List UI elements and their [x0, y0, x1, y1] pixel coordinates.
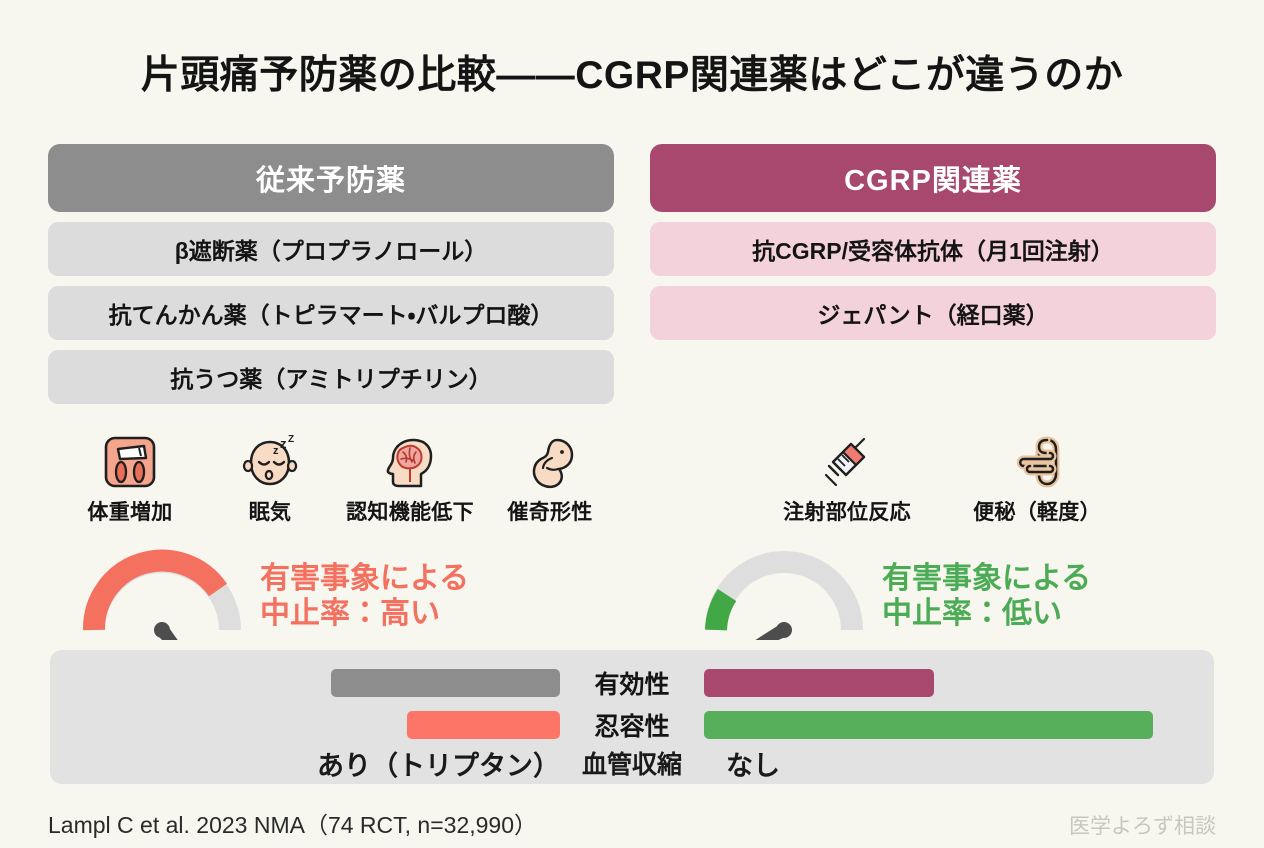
adverse-event-item: 便秘（軽度） — [942, 424, 1132, 526]
bar-track-right — [704, 708, 1214, 742]
comparison-row-tolerability: 忍容性 — [50, 708, 1214, 742]
comparison-label: 忍容性 — [560, 707, 704, 743]
adverse-event-label: 体重増加 — [87, 496, 172, 526]
gauge-line2: 中止率：高い — [260, 597, 469, 632]
adverse-event-label: 眠気 — [249, 496, 292, 526]
adverse-event-label: 認知機能低下 — [346, 496, 474, 526]
source-citation: Lampl C et al. 2023 NMA（74 RCT, n=32,990… — [48, 806, 537, 840]
gauge-line1: 有害事象による — [260, 562, 469, 595]
bar-track-left — [50, 666, 560, 700]
tolerability-bar-cgrp — [704, 711, 1153, 739]
comparison-label: 血管収縮 — [560, 745, 704, 781]
drug-pill: 抗うつ薬（アミトリプチリン） — [48, 350, 614, 404]
column-header-legacy: 従来予防薬 — [48, 144, 614, 212]
bar-track-right — [704, 666, 1214, 700]
brain-head-icon — [379, 424, 441, 492]
comparison-row-efficacy: 有効性 — [50, 666, 1214, 700]
bar-track-left — [50, 708, 560, 742]
weight-scale-icon — [99, 424, 161, 492]
drug-pill: 抗CGRP/受容体抗体（月1回注射） — [650, 222, 1216, 276]
column-cgrp: CGRP関連薬 抗CGRP/受容体抗体（月1回注射） ジェパント（経口薬） — [650, 144, 1216, 340]
vasoconstriction-cgrp-value: なし — [704, 744, 1214, 783]
brand-watermark: 医学よろず相談 — [1069, 810, 1216, 840]
vasoconstriction-legacy-value: あり（トリプタン） — [50, 744, 560, 783]
drug-pill: β遮断薬（プロプラノロール） — [48, 222, 614, 276]
adverse-event-label: 注射部位反応 — [783, 496, 911, 526]
adverse-event-label: 催奇形性 — [507, 496, 592, 526]
adverse-events-legacy: 体重増加 z z Z 眠気 — [60, 424, 620, 526]
efficacy-bar-legacy — [331, 669, 561, 697]
syringe-icon — [816, 424, 878, 492]
svg-text:Z: Z — [288, 434, 294, 445]
svg-text:z: z — [273, 445, 279, 457]
drug-pill: ジェパント（経口薬） — [650, 286, 1216, 340]
infographic-page: 片頭痛予防薬の比較——CGRP関連薬はどこが違うのか 従来予防薬 β遮断薬（プロ… — [0, 0, 1264, 848]
svg-text:z: z — [280, 436, 287, 451]
adverse-event-item: 催奇形性 — [480, 424, 620, 526]
comparison-panel: 有効性 忍容性 あり（トリプタン） 血管収縮 なし — [50, 650, 1214, 784]
column-header-cgrp: CGRP関連薬 — [650, 144, 1216, 212]
comparison-row-vasoconstriction: あり（トリプタン） 血管収縮 なし — [50, 746, 1214, 780]
gauge-dial-legacy — [78, 548, 246, 645]
adverse-events-cgrp: 注射部位反応 便秘（軽度） — [752, 424, 1132, 526]
gauge-text-cgrp: 有害事象による 中止率：低い — [882, 562, 1091, 631]
adverse-event-item: 体重増加 — [60, 424, 200, 526]
sleepy-face-icon: z z Z — [239, 424, 301, 492]
page-title: 片頭痛予防薬の比較——CGRP関連薬はどこが違うのか — [0, 44, 1264, 100]
gauge-dial-cgrp — [700, 548, 868, 645]
column-legacy: 従来予防薬 β遮断薬（プロプラノロール） 抗てんかん薬（トピラマート・バルプロ酸… — [48, 144, 614, 404]
gauge-cgrp: 有害事象による 中止率：低い — [700, 548, 1091, 645]
fetus-icon — [519, 424, 581, 492]
efficacy-bar-cgrp — [704, 669, 934, 697]
adverse-event-item: 注射部位反応 — [752, 424, 942, 526]
adverse-event-item: 認知機能低下 — [340, 424, 480, 526]
drug-pill: 抗てんかん薬（トピラマート・バルプロ酸） — [48, 286, 614, 340]
gauge-line2: 中止率：低い — [882, 597, 1091, 632]
comparison-label: 有効性 — [560, 665, 704, 701]
intestine-icon — [1006, 424, 1068, 492]
adverse-event-label: 便秘（軽度） — [973, 496, 1101, 526]
gauge-legacy: 有害事象による 中止率：高い — [78, 548, 469, 645]
gauge-text-legacy: 有害事象による 中止率：高い — [260, 562, 469, 631]
adverse-event-item: z z Z 眠気 — [200, 424, 340, 526]
gauge-line1: 有害事象による — [882, 562, 1091, 595]
tolerability-bar-legacy — [407, 711, 560, 739]
